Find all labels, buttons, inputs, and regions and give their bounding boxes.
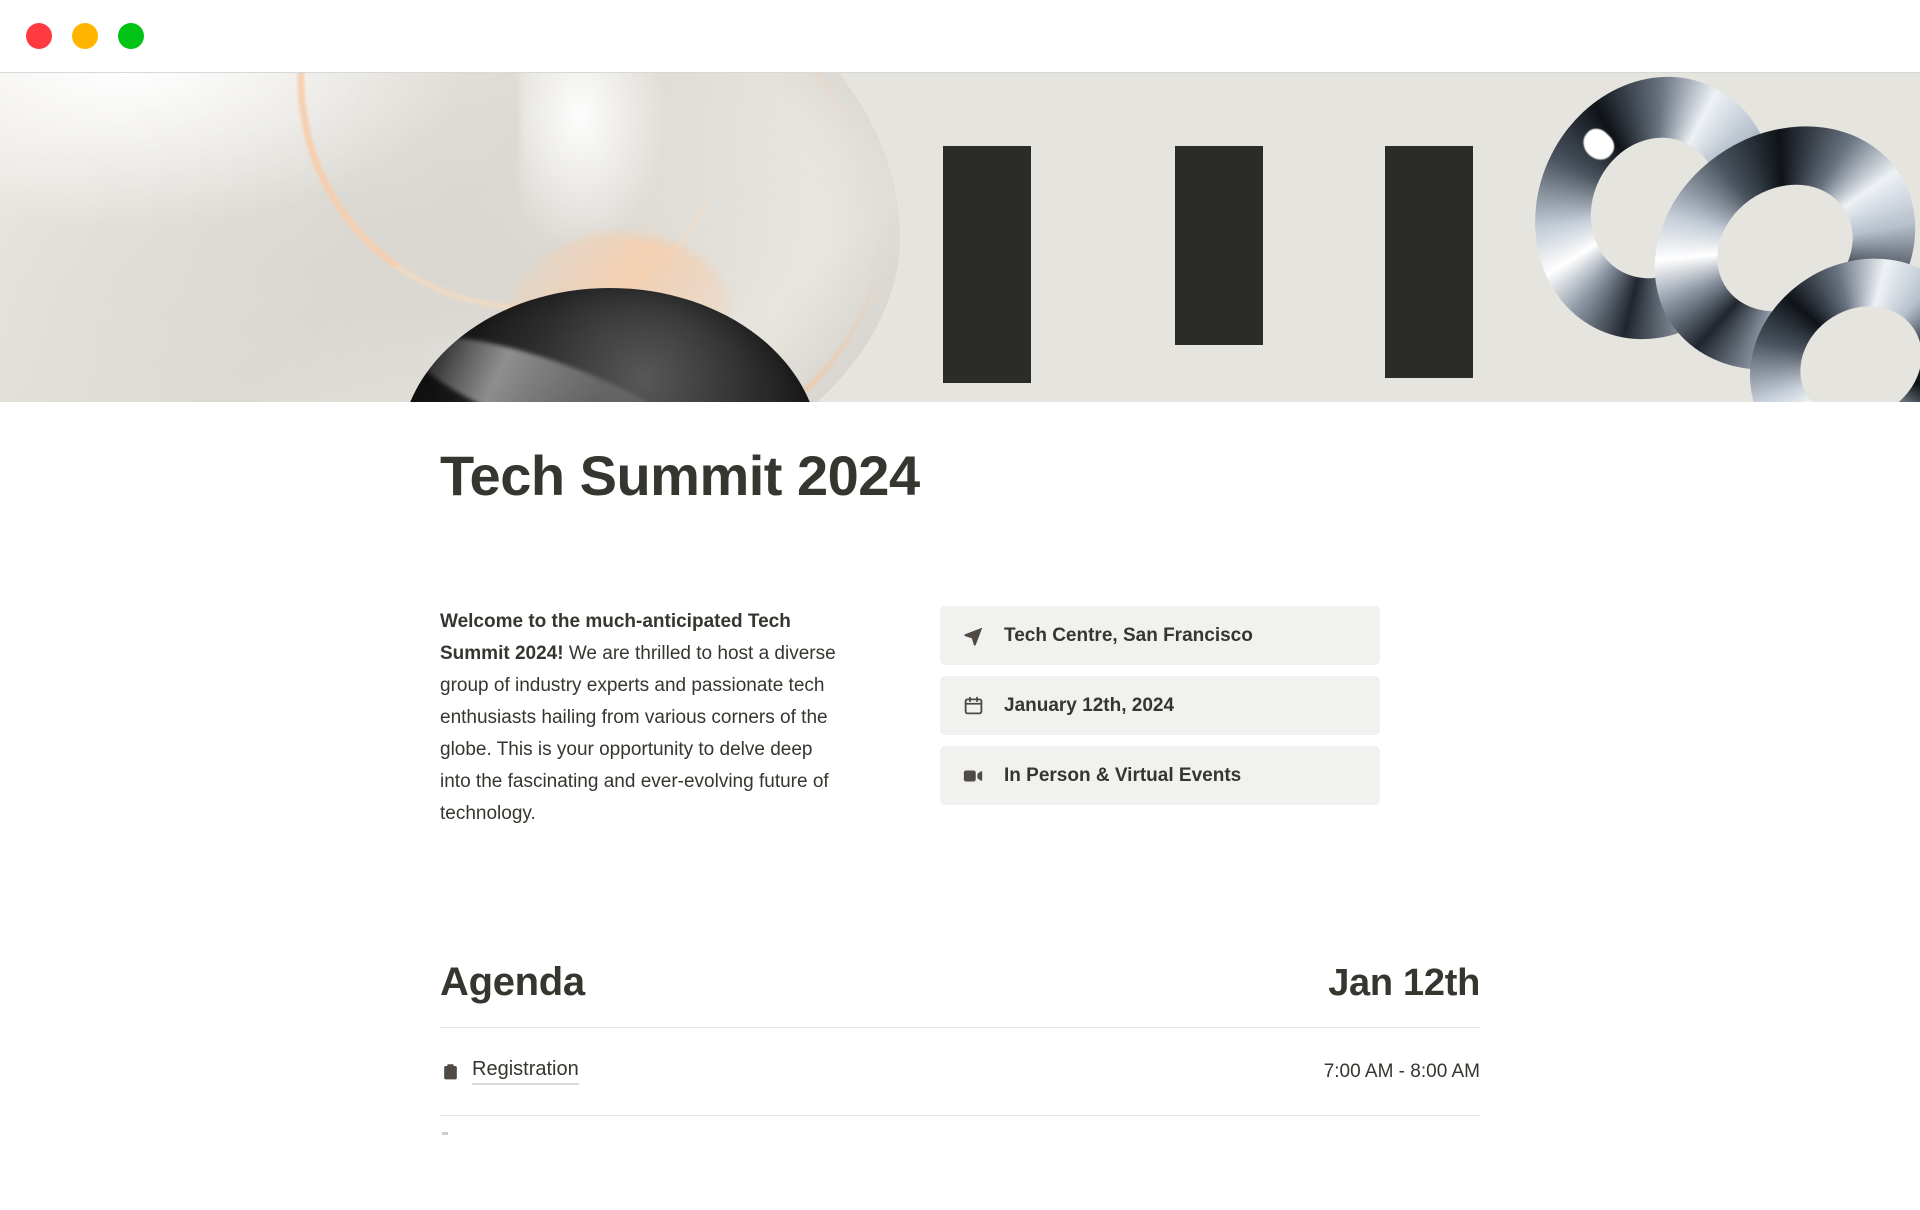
agenda-next-row-icon-sliver — [442, 1132, 448, 1135]
agenda-row-label[interactable]: Registration — [472, 1058, 579, 1085]
window-title-bar — [0, 0, 1920, 73]
intro-body-text: We are thrilled to host a diverse group … — [440, 643, 836, 824]
info-card-date[interactable]: January 12th, 2024 — [940, 676, 1380, 735]
agenda-row[interactable]: Registration 7:00 AM - 8:00 AM — [440, 1028, 1480, 1116]
video-camera-icon — [962, 765, 984, 787]
agenda-row-time: 7:00 AM - 8:00 AM — [1324, 1061, 1480, 1083]
page-content: Tech Summit 2024 Welcome to the much-ant… — [0, 402, 1920, 1210]
hero-dark-bar-1 — [943, 146, 1031, 383]
hero-dark-bar-3 — [1385, 146, 1473, 378]
traffic-lights — [26, 23, 144, 49]
info-card-location-label: Tech Centre, San Francisco — [1004, 625, 1253, 647]
agenda-date-heading: Jan 12th — [1328, 962, 1480, 1005]
hero-banner — [0, 73, 1920, 402]
info-card-date-label: January 12th, 2024 — [1004, 695, 1174, 717]
agenda-header-row: Agenda Jan 12th — [440, 960, 1480, 1028]
chrome-spiral-artwork — [1510, 113, 1920, 402]
calendar-icon — [962, 695, 984, 717]
agenda-section: Agenda Jan 12th Registration 7:00 AM - 8… — [440, 960, 1480, 1210]
info-card-location[interactable]: Tech Centre, San Francisco — [940, 606, 1380, 665]
hero-abstract-artwork — [0, 73, 1920, 402]
event-info-cards: Tech Centre, San Francisco January 12th,… — [940, 606, 1380, 830]
content-column: Tech Summit 2024 Welcome to the much-ant… — [440, 402, 1480, 1210]
page-title: Tech Summit 2024 — [440, 402, 1480, 509]
close-window-button[interactable] — [26, 23, 52, 49]
agenda-row-left: Registration — [440, 1058, 579, 1085]
agenda-heading: Agenda — [440, 960, 585, 1005]
info-card-format-label: In Person & Virtual Events — [1004, 765, 1241, 787]
blob-highlight — [520, 73, 670, 253]
intro-section: Welcome to the much-anticipated Tech Sum… — [440, 606, 1480, 830]
intro-paragraph: Welcome to the much-anticipated Tech Sum… — [440, 606, 838, 830]
navigation-arrow-icon — [962, 625, 984, 647]
maximize-window-button[interactable] — [118, 23, 144, 49]
minimize-window-button[interactable] — [72, 23, 98, 49]
agenda-next-row-partial — [440, 1116, 1480, 1170]
info-card-format[interactable]: In Person & Virtual Events — [940, 746, 1380, 805]
clipboard-icon — [440, 1062, 460, 1082]
hero-dark-bar-2 — [1175, 146, 1263, 345]
